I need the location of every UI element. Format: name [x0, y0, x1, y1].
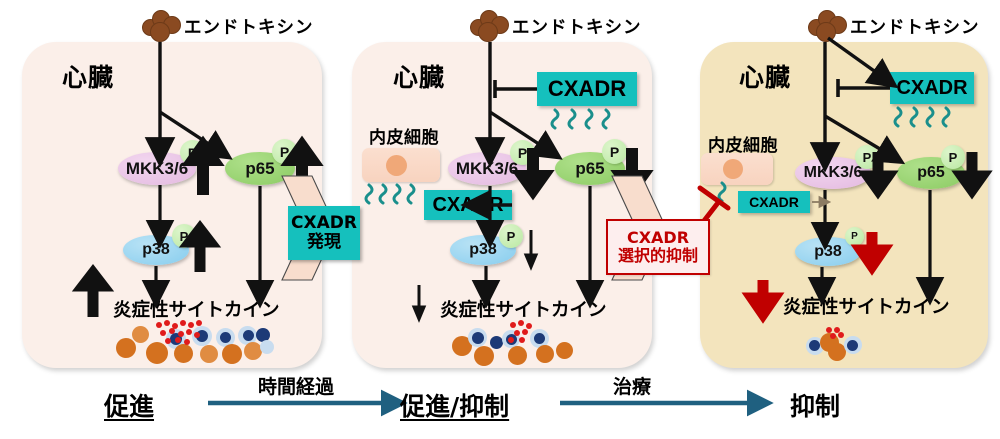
regulation-arrow-p65-panel3: [962, 152, 982, 190]
transition-box-cxadr-inhibition: CXADR 選択的抑制: [606, 219, 710, 275]
transition-box-line1: CXADR: [627, 229, 689, 247]
flow-label-treatment: 治療: [613, 372, 651, 399]
cxadr-glycan-squiggles-panel2-membrane: [366, 185, 414, 203]
regulation-arrow-cytokine-panel2: [414, 285, 424, 319]
stage-label-suppression: 抑制: [790, 387, 840, 423]
regulation-arrow-mkk-panel1: [193, 146, 213, 195]
arrow-endotoxin-to-p65-panel1: [160, 112, 218, 150]
transition-box-line2: 選択的抑制: [618, 247, 698, 265]
stage-label-promotion-suppression: 促進/抑制: [400, 387, 509, 423]
regulation-arrow-p38-panel3: [861, 232, 883, 266]
regulation-arrow-cytokine-panel1: [83, 273, 103, 317]
transition-box-cxadr-expression: CXADR 発現: [288, 206, 360, 260]
stage-label-promotion: 促進: [104, 387, 154, 423]
cxadr-glycan-squiggles-panel3-top: [895, 108, 949, 126]
regulation-arrow-mkk-panel2: [523, 148, 543, 190]
regulation-arrow-p38-panel1: [190, 229, 210, 272]
arrow-endotoxin-to-p65-panel2: [490, 112, 548, 150]
flow-label-time-course: 時間経過: [258, 372, 334, 399]
regulation-arrow-cytokine-panel3: [752, 280, 774, 314]
connector-overlay: [0, 0, 1000, 439]
cxadr-glycan-squiggle-panel3-membrane: [719, 183, 725, 201]
regulation-arrow-mkk-panel3: [868, 152, 888, 190]
cxadr-glycan-squiggles-panel2-top: [552, 110, 609, 128]
diagram-canvas: 心臓 エンドトキシン MKK3/6 P p65 P p38 P 炎症性サイトカイ…: [0, 0, 1000, 439]
arrow-endotoxin-to-p65-panel3: [825, 116, 890, 155]
regulation-arrow-p38-panel2: [526, 230, 536, 267]
arrow-endotoxin-to-cxadr-panel3: [828, 38, 884, 78]
transition-box-line1: CXADR: [291, 214, 357, 233]
transition-box-line2: 発現: [307, 233, 341, 252]
